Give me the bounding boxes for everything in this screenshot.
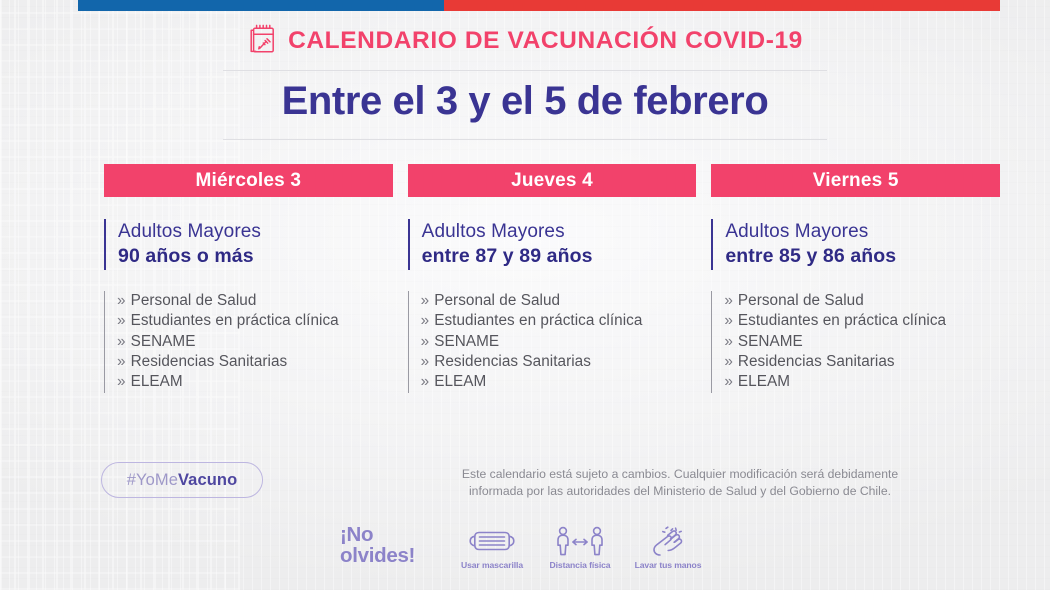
list-item-label: SENAME [131,332,196,352]
poster-canvas: CALENDARIO DE VACUNACIÓN COVID-19 Entre … [0,0,1050,590]
guillemet-icon: » [421,291,430,311]
list-item-label: ELEAM [434,372,486,392]
page-title: Entre el 3 y el 5 de febrero [0,71,1050,128]
list-item-label: ELEAM [131,372,183,392]
list-item-label: Personal de Salud [738,291,864,311]
measure-distance: Distancia física [544,523,616,570]
guillemet-icon: » [117,332,126,352]
disclaimer-line-2: informada por las autoridades del Minist… [440,483,920,500]
group-line-1: Adultos Mayores [422,219,697,244]
kicker-row: CALENDARIO DE VACUNACIÓN COVID-19 [0,24,1050,58]
day-column-3: Viernes 5 Adultos Mayores entre 85 y 86 … [711,164,1000,393]
measure-caption: Lavar tus manos [635,560,702,570]
calendar-syringe-icon [247,23,277,60]
list-item-label: Residencias Sanitarias [131,352,288,372]
list-item: » Personal de Salud [724,291,1000,311]
flag-blue-segment [78,0,444,11]
reminders-title-line-1: ¡No [340,525,440,546]
list-item: » ELEAM [421,372,697,392]
target-group: Adultos Mayores entre 87 y 89 años [408,219,697,270]
list-item-label: Residencias Sanitarias [738,352,895,372]
badge-strong-text: Vacuno [178,471,237,490]
day-label: Viernes 5 [813,170,899,192]
group-line-2: entre 85 y 86 años [725,244,1000,270]
guillemet-icon: » [421,372,430,392]
eligibility-list: » Personal de Salud » Estudiantes en prá… [711,291,1000,393]
list-item: » Estudiantes en práctica clínica [117,311,393,331]
list-item-label: Residencias Sanitarias [434,352,591,372]
list-item-label: Estudiantes en práctica clínica [131,311,339,331]
guillemet-icon: » [117,352,126,372]
measure-caption: Usar mascarilla [461,560,523,570]
day-label: Jueves 4 [511,170,593,192]
measure-caption: Distancia física [550,560,611,570]
list-item: » Residencias Sanitarias [724,352,1000,372]
guillemet-icon: » [421,352,430,372]
day-column-2: Jueves 4 Adultos Mayores entre 87 y 89 a… [408,164,697,393]
disclaimer-text: Este calendario está sujeto a cambios. C… [440,466,920,499]
list-item: » Residencias Sanitarias [421,352,697,372]
wash-hands-icon [644,523,692,557]
list-item: » Estudiantes en práctica clínica [724,311,1000,331]
face-mask-icon [468,523,516,557]
reminders-strip: ¡No olvides! Usar mascarilla [340,515,740,577]
eligibility-list: » Personal de Salud » Estudiantes en prá… [408,291,697,393]
chile-flag-bar [78,0,1000,11]
kicker-label: CALENDARIO DE VACUNACIÓN COVID-19 [288,29,803,54]
measure-handwash: Lavar tus manos [632,523,704,570]
target-group: Adultos Mayores entre 85 y 86 años [711,219,1000,270]
day-column-1: Miércoles 3 Adultos Mayores 90 años o má… [104,164,393,393]
reminders-title-line-2: olvides! [340,546,440,567]
yomevacuno-badge: #YoMeVacuno [101,462,263,498]
day-header-bar: Miércoles 3 [104,164,393,197]
guillemet-icon: » [421,332,430,352]
guillemet-icon: » [117,291,126,311]
group-line-2: 90 años o más [118,244,393,270]
list-item-label: SENAME [738,332,803,352]
list-item-label: Personal de Salud [434,291,560,311]
flag-red-segment [444,0,1000,11]
guillemet-icon: » [117,311,126,331]
guillemet-icon: » [724,311,733,331]
guillemet-icon: » [724,352,733,372]
day-header-bar: Jueves 4 [408,164,697,197]
guillemet-icon: » [724,372,733,392]
list-item: » Personal de Salud [117,291,393,311]
physical-distance-icon [553,523,607,557]
list-item: » Personal de Salud [421,291,697,311]
day-header-bar: Viernes 5 [711,164,1000,197]
group-line-1: Adultos Mayores [725,219,1000,244]
list-item: » Estudiantes en práctica clínica [421,311,697,331]
list-item: » ELEAM [117,372,393,392]
divider-bottom [223,139,827,140]
disclaimer-line-1: Este calendario está sujeto a cambios. C… [440,466,920,483]
day-label: Miércoles 3 [195,170,301,192]
list-item-label: Estudiantes en práctica clínica [738,311,946,331]
poster-header: CALENDARIO DE VACUNACIÓN COVID-19 Entre … [0,24,1050,140]
badge-hash-text: #YoMe [127,471,178,490]
schedule-columns: Miércoles 3 Adultos Mayores 90 años o má… [104,164,1000,393]
group-line-2: entre 87 y 89 años [422,244,697,270]
list-item-label: ELEAM [738,372,790,392]
measure-mask: Usar mascarilla [456,523,528,570]
list-item-label: SENAME [434,332,499,352]
list-item: » Residencias Sanitarias [117,352,393,372]
guillemet-icon: » [724,332,733,352]
list-item: » ELEAM [724,372,1000,392]
list-item: » SENAME [724,332,1000,352]
list-item-label: Personal de Salud [131,291,257,311]
guillemet-icon: » [724,291,733,311]
list-item: » SENAME [421,332,697,352]
eligibility-list: » Personal de Salud » Estudiantes en prá… [104,291,393,393]
list-item-label: Estudiantes en práctica clínica [434,311,642,331]
guillemet-icon: » [117,372,126,392]
list-item: » SENAME [117,332,393,352]
guillemet-icon: » [421,311,430,331]
target-group: Adultos Mayores 90 años o más [104,219,393,270]
group-line-1: Adultos Mayores [118,219,393,244]
reminders-title: ¡No olvides! [340,525,440,567]
